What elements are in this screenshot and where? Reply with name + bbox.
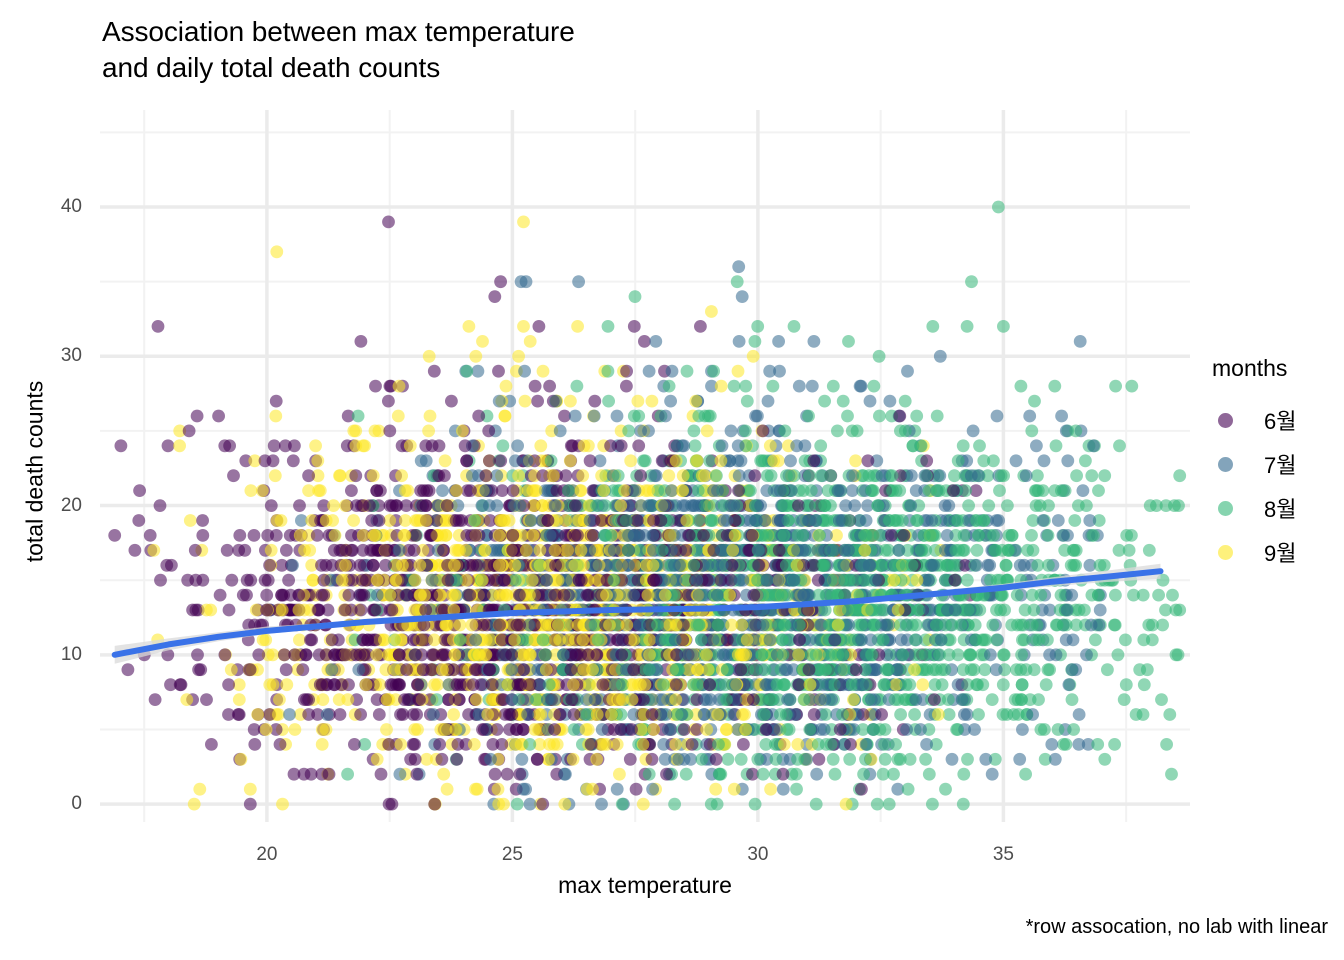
legend-title: months [1208,355,1338,382]
x-tick-label: 35 [993,844,1014,866]
legend-item-3[interactable]: 8월 [1208,486,1338,530]
y-tick-label: 10 [20,644,82,666]
legend-dot-icon [1218,545,1233,560]
legend-key-swatch [1208,535,1242,569]
legend-label: 8월 [1264,492,1296,524]
x-axis-title: max temperature [100,872,1190,899]
x-tick-label: 20 [256,844,277,866]
loess-smooth-line [100,110,1190,822]
legend-key-swatch [1208,403,1242,437]
plot-panel [100,110,1190,822]
legend-item-2[interactable]: 7월 [1208,442,1338,486]
x-tick-label: 30 [747,844,768,866]
chart-caption: *row assocation, no lab with linear [1026,916,1328,939]
legend-item-4[interactable]: 9월 [1208,530,1338,574]
legend-key-swatch [1208,491,1242,525]
legend-label: 9월 [1264,536,1296,568]
y-axis-title: total death counts [22,322,49,622]
legend-label: 6월 [1264,404,1296,436]
chart-figure: Association between max temperature and … [0,0,1344,960]
legend-key-swatch [1208,447,1242,481]
legend-dot-icon [1218,413,1233,428]
legend-label: 7월 [1264,448,1296,480]
legend-items: 6월7월8월9월 [1208,398,1338,574]
legend-dot-icon [1218,457,1233,472]
y-tick-label: 0 [20,793,82,815]
legend-dot-icon [1218,501,1233,516]
legend-item-1[interactable]: 6월 [1208,398,1338,442]
legend: months 6월7월8월9월 [1208,355,1338,574]
x-tick-label: 25 [502,844,523,866]
y-tick-label: 40 [20,196,82,218]
chart-title: Association between max temperature and … [102,14,922,85]
